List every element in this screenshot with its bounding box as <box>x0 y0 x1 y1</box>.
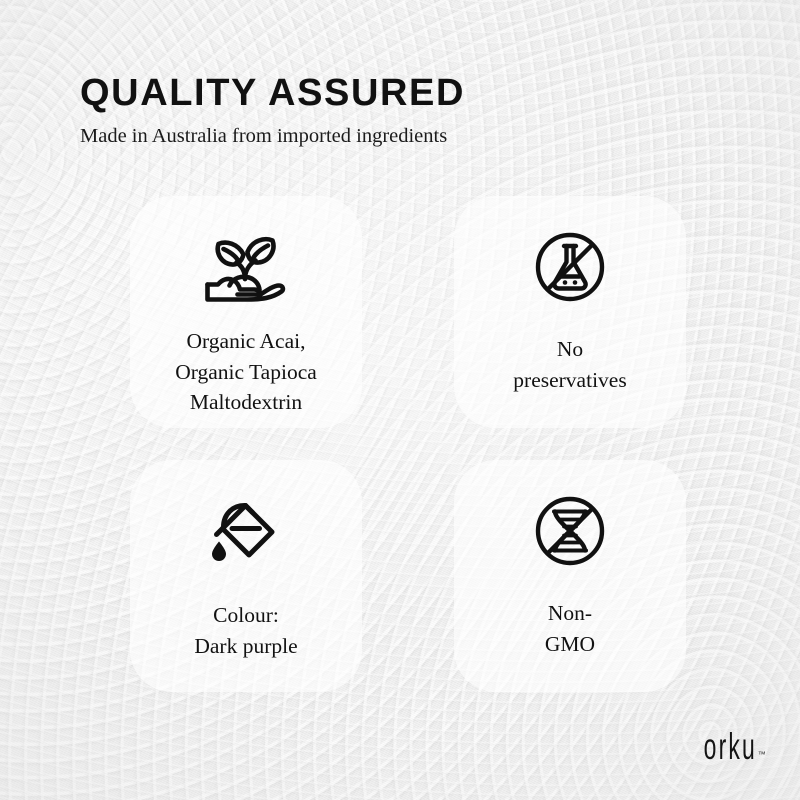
feature-card-ingredients: Organic Acai, Organic Tapioca Maltodextr… <box>130 196 362 428</box>
header: QUALITY ASSURED Made in Australia from i… <box>80 74 465 147</box>
feature-card-label: Organic Acai, Organic Tapioca Maltodextr… <box>141 326 351 418</box>
feature-card-colour: Colour: Dark purple <box>130 460 362 692</box>
paint-bucket-icon <box>206 490 286 576</box>
feature-card-non-gmo: Non- GMO <box>454 460 686 692</box>
no-dna-icon <box>533 490 607 572</box>
feature-card-label: Colour: Dark purple <box>141 600 351 661</box>
page-subtitle: Made in Australia from imported ingredie… <box>80 126 465 147</box>
quality-assured-infographic: QUALITY ASSURED Made in Australia from i… <box>0 0 800 800</box>
no-flask-icon <box>533 226 607 308</box>
feature-card-label: Non- GMO <box>465 598 675 659</box>
trademark-symbol: ™ <box>758 750 766 759</box>
feature-card-no-preservatives: No preservatives <box>454 196 686 428</box>
feature-card-label: No preservatives <box>465 334 675 395</box>
feature-card-grid: Organic Acai, Organic Tapioca Maltodextr… <box>130 196 686 692</box>
hand-sprout-icon <box>202 226 290 312</box>
brand-logo-wordmark: orku <box>703 732 756 762</box>
page-title: QUALITY ASSURED <box>80 74 465 112</box>
brand-logo: orku ™ <box>671 732 766 762</box>
